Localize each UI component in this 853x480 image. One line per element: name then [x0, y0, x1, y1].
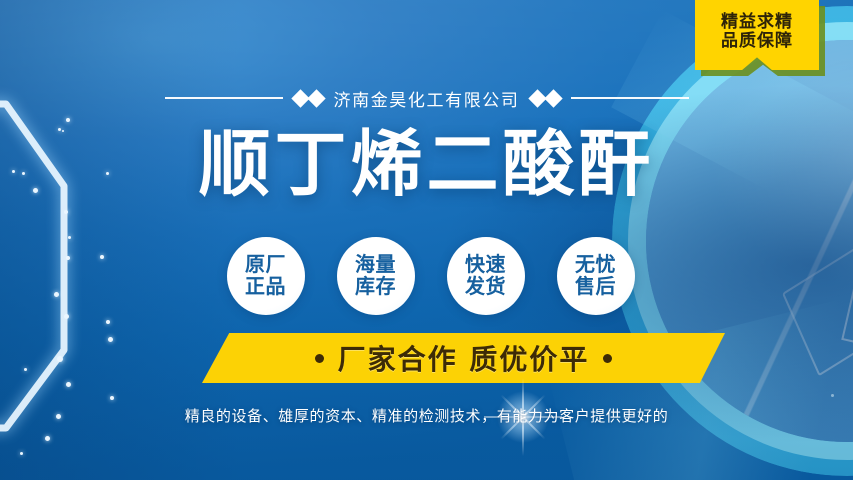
feature-badge-aftersales: 无忧 售后 [557, 237, 635, 315]
feature-badge-line1: 快速 [465, 254, 506, 276]
highlight-bar-text: 厂家合作 质优价平 [338, 338, 590, 378]
badge-line1: 精益求精 [721, 13, 793, 32]
page-title: 顺丁烯二酸酐 [0, 128, 853, 200]
header-rule-right [571, 97, 689, 99]
sparkle-dot [20, 452, 23, 455]
sparkle-dot [66, 382, 71, 387]
sparkle-dot [110, 396, 114, 400]
bullet-dot-icon [603, 354, 612, 363]
sparkle-dot [45, 436, 50, 441]
diamond-icon [307, 89, 325, 107]
feature-badge-list: 原厂 正品 海量 库存 快速 发货 无忧 售后 [0, 235, 853, 317]
company-name: 济南金昊化工有限公司 [334, 86, 520, 111]
sparkle-dot [831, 394, 834, 397]
diamond-icon [544, 89, 562, 107]
company-header: 济南金昊化工有限公司 [0, 80, 853, 116]
promo-banner: 济南金昊化工有限公司 顺丁烯二酸酐 原厂 正品 海量 库存 快速 发货 无忧 售… [0, 0, 853, 480]
bullet-dot-icon [315, 354, 324, 363]
sparkle-dot [66, 118, 70, 122]
highlight-bar: 厂家合作 质优价平 [202, 333, 725, 383]
diamond-icon-left [294, 92, 323, 105]
sparkle-dot [106, 320, 110, 324]
badge-line2: 品质保障 [721, 32, 793, 51]
feature-badge-line2: 售后 [575, 276, 616, 298]
feature-badge-line2: 发货 [465, 276, 506, 298]
sparkle-dot [64, 210, 68, 214]
subtitle-text: 精良的设备、雄厚的资本、精准的检测技术，有能力为客户提供更好的 [0, 405, 853, 426]
feature-badge-stock: 海量 库存 [337, 237, 415, 315]
sparkle-dot [108, 337, 113, 342]
feature-badge-line2: 正品 [245, 276, 286, 298]
feature-badge-line2: 库存 [355, 276, 396, 298]
sparkle-dot [24, 368, 27, 371]
feature-badge-shipping: 快速 发货 [447, 237, 525, 315]
sparkle-dot [57, 356, 63, 362]
diamond-icon-right [531, 92, 560, 105]
header-rule-left [165, 97, 283, 99]
feature-badge-line1: 原厂 [245, 254, 286, 276]
feature-badge-line1: 无忧 [575, 254, 616, 276]
corner-quality-badge: 精益求精 品质保障 [695, 0, 819, 70]
feature-badge-original: 原厂 正品 [227, 237, 305, 315]
feature-badge-line1: 海量 [355, 254, 396, 276]
